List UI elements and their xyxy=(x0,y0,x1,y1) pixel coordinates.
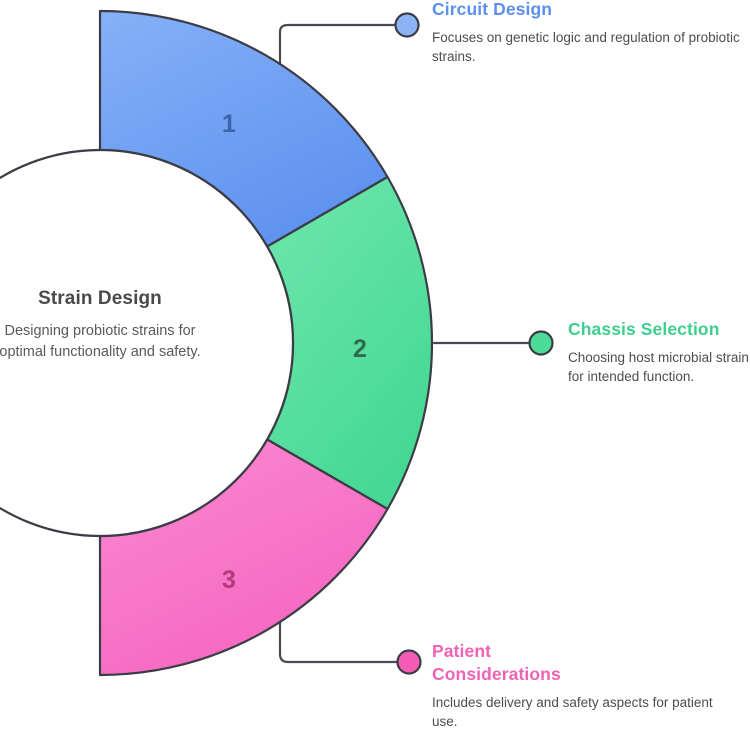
callout-description-3: Includes delivery and safety aspects for… xyxy=(432,693,732,731)
marker-dot-2[interactable] xyxy=(530,332,553,355)
infographic-root: 1 2 3 Strain Design Designing probiotic … xyxy=(0,0,750,735)
callout-chassis-selection[interactable]: Chassis Selection Choosing host microbia… xyxy=(568,318,750,386)
marker-dot-1[interactable] xyxy=(396,14,419,37)
callout-patient-considerations[interactable]: Patient Considerations Includes delivery… xyxy=(432,640,732,732)
callout-title-3: Patient Considerations xyxy=(432,640,582,686)
callout-description-1: Focuses on genetic logic and regulation … xyxy=(432,28,750,66)
marker-dot-3[interactable] xyxy=(398,651,421,674)
segment-number-3: 3 xyxy=(222,566,236,594)
callout-circuit-design[interactable]: Circuit Design Focuses on genetic logic … xyxy=(432,0,750,66)
segment-number-1: 1 xyxy=(222,110,236,138)
callout-title-2: Chassis Selection xyxy=(568,318,750,341)
callout-description-2: Choosing host microbial strain for inten… xyxy=(568,348,750,386)
callout-title-1: Circuit Design xyxy=(432,0,750,21)
segment-number-2: 2 xyxy=(353,335,367,363)
